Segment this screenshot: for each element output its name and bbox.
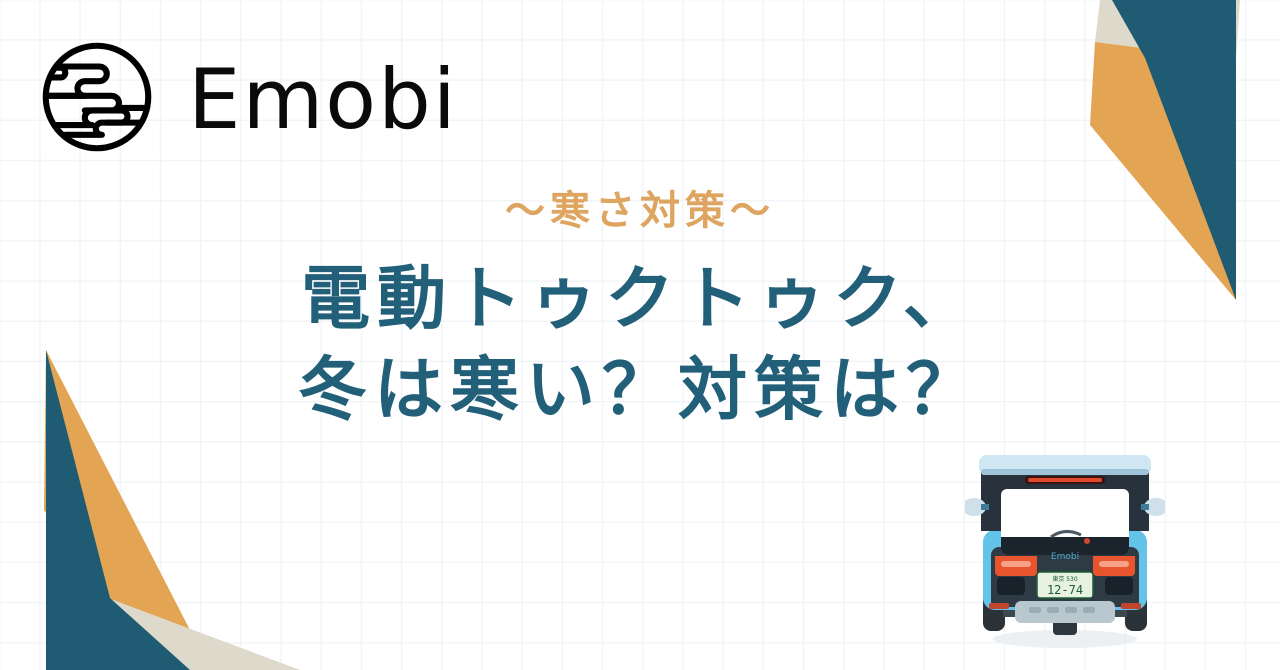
eyebrow-text: 〜寒さ対策〜 xyxy=(0,186,1280,236)
vent-left xyxy=(997,577,1025,595)
mirror-arm-right xyxy=(1141,504,1149,510)
brand-wordmark: Emobi xyxy=(188,58,458,141)
emobi-circle-wave-logo-icon xyxy=(36,36,158,158)
license-plate-number: 12-74 xyxy=(1047,583,1083,597)
brand-logo[interactable]: Emobi xyxy=(36,36,458,158)
interior-indicator xyxy=(1084,538,1090,544)
headline-block: 〜寒さ対策〜 電動トゥクトゥク、 冬は寒い？対策は？ xyxy=(0,186,1280,436)
taillight-highlight-right xyxy=(1099,561,1129,567)
mirror-arm-left xyxy=(981,504,989,510)
roof xyxy=(979,455,1151,471)
license-plate-region: 東京 530 xyxy=(1052,575,1078,583)
electric-tuk-tuk-rear-view: Emobi 東京 530 12-74 xyxy=(965,425,1165,660)
roof-trim xyxy=(981,469,1149,475)
banner-root: Emobi 〜寒さ対策〜 電動トゥクトゥク、 冬は寒い？対策は？ xyxy=(0,0,1280,670)
reflector-right xyxy=(1121,603,1141,609)
reflector-left xyxy=(989,603,1009,609)
brake-light-leds xyxy=(1028,478,1102,482)
tailgate-emblem: Emobi xyxy=(1051,552,1079,562)
vent-right xyxy=(1105,577,1133,595)
page-title: 電動トゥクトゥク、 冬は寒い？対策は？ xyxy=(0,254,1280,436)
taillight-highlight-left xyxy=(1001,561,1031,567)
